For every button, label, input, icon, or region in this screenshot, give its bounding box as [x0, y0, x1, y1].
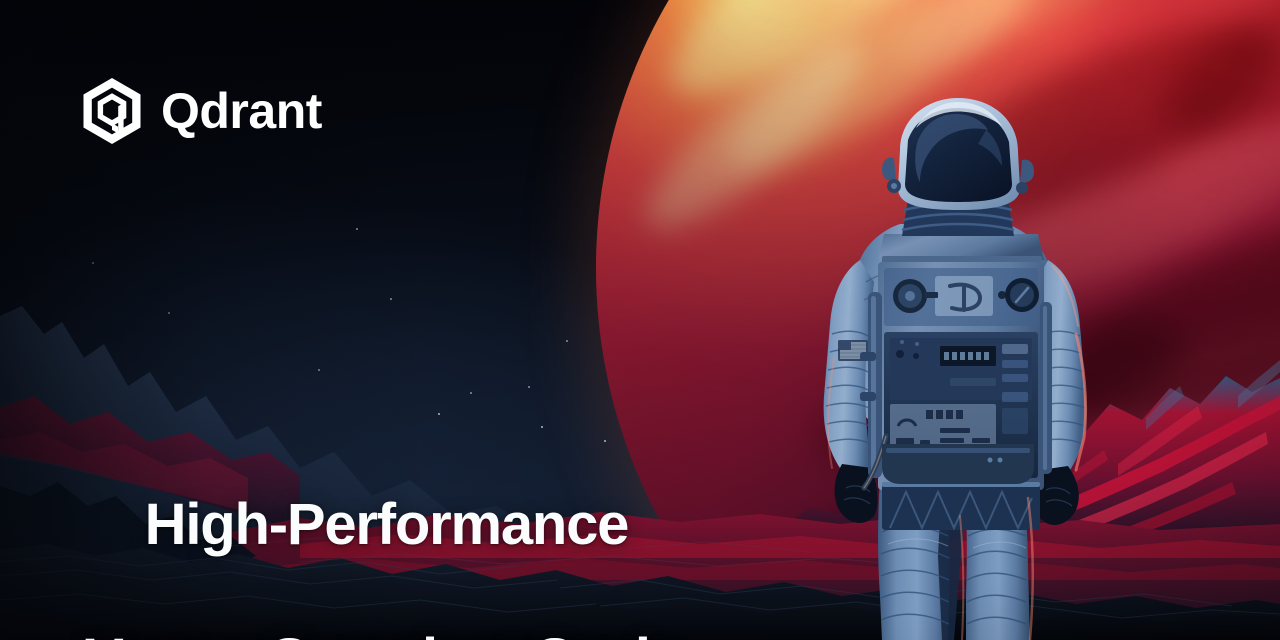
headline-line-2: Vector Search at Scale	[85, 626, 681, 640]
qdrant-hexagon-logo-icon	[82, 78, 142, 144]
astronaut-figure	[790, 96, 1120, 640]
hero-banner: Qdrant High-Performance Vector Search at…	[0, 0, 1280, 640]
qdrant-logo[interactable]: Qdrant	[82, 78, 322, 144]
qdrant-wordmark: Qdrant	[161, 86, 322, 136]
headline-line-1: High-Performance	[145, 492, 629, 557]
page-title: High-Performance Vector Search at Scale	[85, 424, 681, 640]
